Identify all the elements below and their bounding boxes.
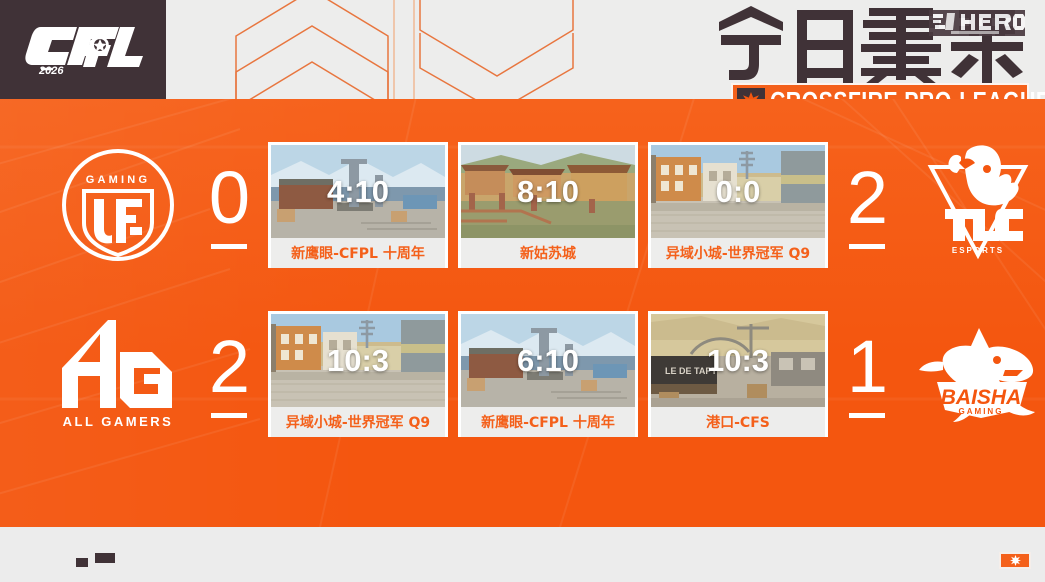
map-name: 新鹰眼-CFPL 十周年 <box>271 238 445 268</box>
map-score: 10:3 <box>327 343 389 379</box>
baisha-gaming-logo: BAISHA GAMING <box>898 309 1045 439</box>
match-rows: GAMING 0 <box>0 99 1045 527</box>
map-thumb-foreign-town: 0:0 <box>651 145 825 238</box>
star-burst-icon <box>737 88 765 99</box>
results-screen: 2026 <box>0 0 1045 582</box>
score-value: 1 <box>847 330 887 404</box>
map-thumb-foreign-town: 10:3 <box>271 314 445 407</box>
title-group: CROSSFIRE PRO-LEAGUE <box>711 2 1027 99</box>
svg-text:GAMING: GAMING <box>86 174 150 186</box>
map-name: 新姑苏城 <box>461 238 635 268</box>
ag-all-gamers-logo: ALL GAMERS <box>38 309 198 439</box>
score-value: 2 <box>847 161 887 235</box>
score-value: 0 <box>209 161 249 235</box>
map-card[interactable]: 0:0 异域小城-世界冠军 Q9 <box>648 142 828 268</box>
results-body: GAMING 0 <box>0 99 1045 527</box>
map-thumb-port: LE DE TAPT <box>651 314 825 407</box>
map-thumb-ancient-town: 8:10 <box>461 145 635 238</box>
left-team-score: 0 <box>198 140 260 270</box>
ticker-mark-small <box>76 558 88 567</box>
map-score: 6:10 <box>517 343 579 379</box>
star-burst-icon <box>1010 555 1021 566</box>
map-card[interactable]: 10:3 异域小城-世界冠军 Q9 <box>268 311 448 437</box>
hero-watermark-icon <box>929 10 1025 36</box>
map-card[interactable]: 8:10 新姑苏城 <box>458 142 638 268</box>
tlc-esports-logo: ESPORTS <box>898 140 1045 270</box>
map-score: 4:10 <box>327 174 389 210</box>
map-card[interactable]: LE DE TAPT <box>648 311 828 437</box>
map-thumb-snow-rig: 6:10 <box>461 314 635 407</box>
map-name: 新鹰眼-CFPL 十周年 <box>461 407 635 437</box>
svg-text:BAISHA: BAISHA <box>941 386 1022 409</box>
map-cards-row-2: 10:3 异域小城-世界冠军 Q9 <box>268 311 828 437</box>
top-banner: 2026 <box>0 0 1045 99</box>
svg-text:2026: 2026 <box>38 65 64 77</box>
right-team-score: 2 <box>836 140 898 270</box>
cfpl-logo-block: 2026 <box>0 0 166 99</box>
svg-text:GAMING: GAMING <box>959 407 1004 416</box>
map-score: 0:0 <box>716 174 761 210</box>
score-underline <box>849 244 885 249</box>
map-score: 10:3 <box>707 343 769 379</box>
match-row: GAMING 0 <box>0 135 1045 275</box>
map-thumb-snow-rig: 4:10 <box>271 145 445 238</box>
corner-star-badge[interactable] <box>999 552 1031 569</box>
vg-gaming-logo: GAMING <box>38 140 198 270</box>
league-banner: CROSSFIRE PRO-LEAGUE <box>733 85 1027 99</box>
map-name: 港口-CFS <box>651 407 825 437</box>
score-underline <box>849 413 885 418</box>
score-underline <box>211 413 247 418</box>
map-name: 异域小城-世界冠军 Q9 <box>651 238 825 268</box>
cfpl-logo-icon: 2026 <box>19 19 147 81</box>
right-team-score: 1 <box>836 309 898 439</box>
svg-text:ALL GAMERS: ALL GAMERS <box>63 414 174 429</box>
svg-text:ESPORTS: ESPORTS <box>952 246 1004 255</box>
score-value: 2 <box>209 330 249 404</box>
map-name: 异域小城-世界冠军 Q9 <box>271 407 445 437</box>
map-cards-row-1: 4:10 新鹰眼-CFPL 十周年 <box>268 142 828 268</box>
map-card[interactable]: 4:10 新鹰眼-CFPL 十周年 <box>268 142 448 268</box>
left-team-score: 2 <box>198 309 260 439</box>
league-banner-text: CROSSFIRE PRO-LEAGUE <box>770 86 1045 99</box>
bottom-bar <box>0 527 1045 582</box>
map-score: 8:10 <box>517 174 579 210</box>
match-row: ALL GAMERS 2 <box>0 304 1045 444</box>
ticker-mark-wide <box>95 553 115 563</box>
map-card[interactable]: 6:10 新鹰眼-CFPL 十周年 <box>458 311 638 437</box>
score-underline <box>211 244 247 249</box>
